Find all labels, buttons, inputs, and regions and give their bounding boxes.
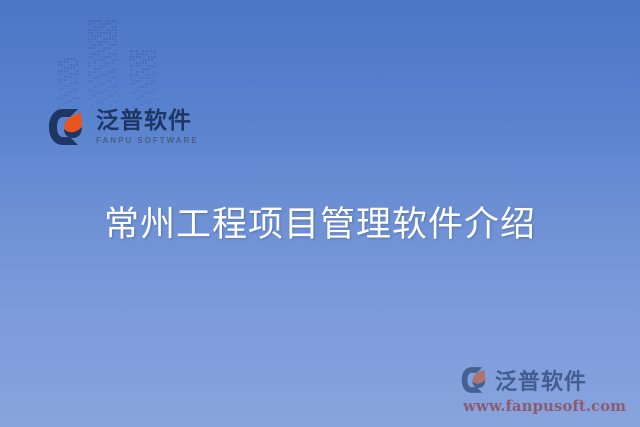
- fanpu-logo-icon: [461, 365, 491, 395]
- watermark-url: www.fanpusoft.com: [463, 397, 626, 415]
- brand-name-en: FANPU SOFTWARE: [96, 137, 199, 145]
- presentation-slide: 泛普软件 FANPU SOFTWARE 常州工程项目管理软件介绍 泛普软件 ww…: [0, 0, 640, 427]
- watermark-logo-row: 泛普软件: [461, 364, 587, 396]
- brand-wordblock: 泛普软件 FANPU SOFTWARE: [96, 110, 199, 145]
- watermark-name-cn: 泛普软件: [495, 364, 587, 396]
- site-watermark: 泛普软件 www.fanpusoft.com: [461, 364, 626, 415]
- brand-logo: 泛普软件 FANPU SOFTWARE: [48, 106, 199, 148]
- brand-name-cn: 泛普软件: [96, 110, 199, 133]
- slide-headline: 常州工程项目管理软件介绍: [0, 196, 640, 247]
- pixel-cityscape-watermark: [58, 12, 178, 110]
- fanpu-logo-icon: [48, 106, 90, 148]
